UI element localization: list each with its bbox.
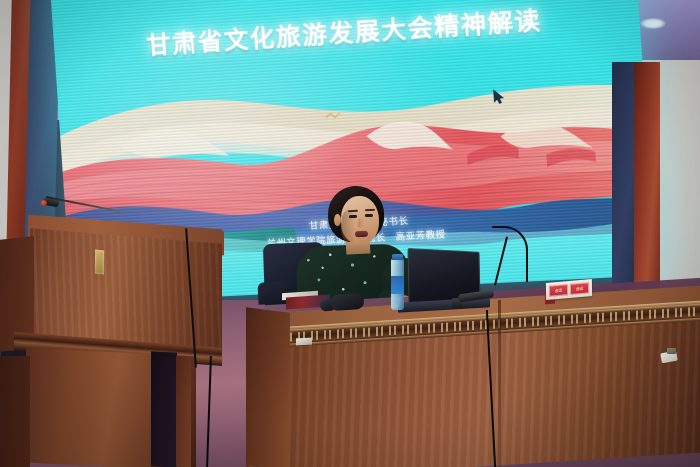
- desk-nameplate: [296, 338, 312, 346]
- speaker-eye-right: [365, 214, 373, 217]
- speaker-eyebrow-right: [365, 209, 375, 211]
- water-bottle-cap: [392, 254, 403, 260]
- speaker-eye-left: [349, 215, 357, 218]
- placard-text-left: 会议: [550, 285, 567, 295]
- floor-object-small: [667, 348, 676, 354]
- podium-pedestal-shadow: [151, 351, 177, 467]
- water-bottle-label: [391, 276, 404, 294]
- desk-left-end-panel: [246, 307, 290, 467]
- podium-pedestal-edge: [176, 356, 191, 467]
- desk-panel-seam: [498, 300, 501, 467]
- speaker-ear: [334, 214, 341, 226]
- speaker-nose: [358, 219, 364, 228]
- headset: [329, 293, 364, 311]
- speaker-mouth: [355, 231, 368, 237]
- podium-brass-plate: [95, 250, 104, 275]
- placard-cell-right: 会议: [570, 282, 589, 295]
- mouse-pointer-icon: [493, 89, 506, 109]
- placard-cell-left: 会议: [549, 284, 568, 297]
- podium-pedestal-left: [0, 356, 30, 467]
- podium-microphone-tip: [41, 200, 47, 206]
- ceiling-light: [640, 18, 666, 29]
- placard-text-right: 会议: [571, 283, 588, 293]
- conference-presentation-photo: 甘肃省文化旅游发展大会精神解读 甘肃文旅智库副秘书长 兰州文理学院旅游学院院长 …: [0, 0, 700, 467]
